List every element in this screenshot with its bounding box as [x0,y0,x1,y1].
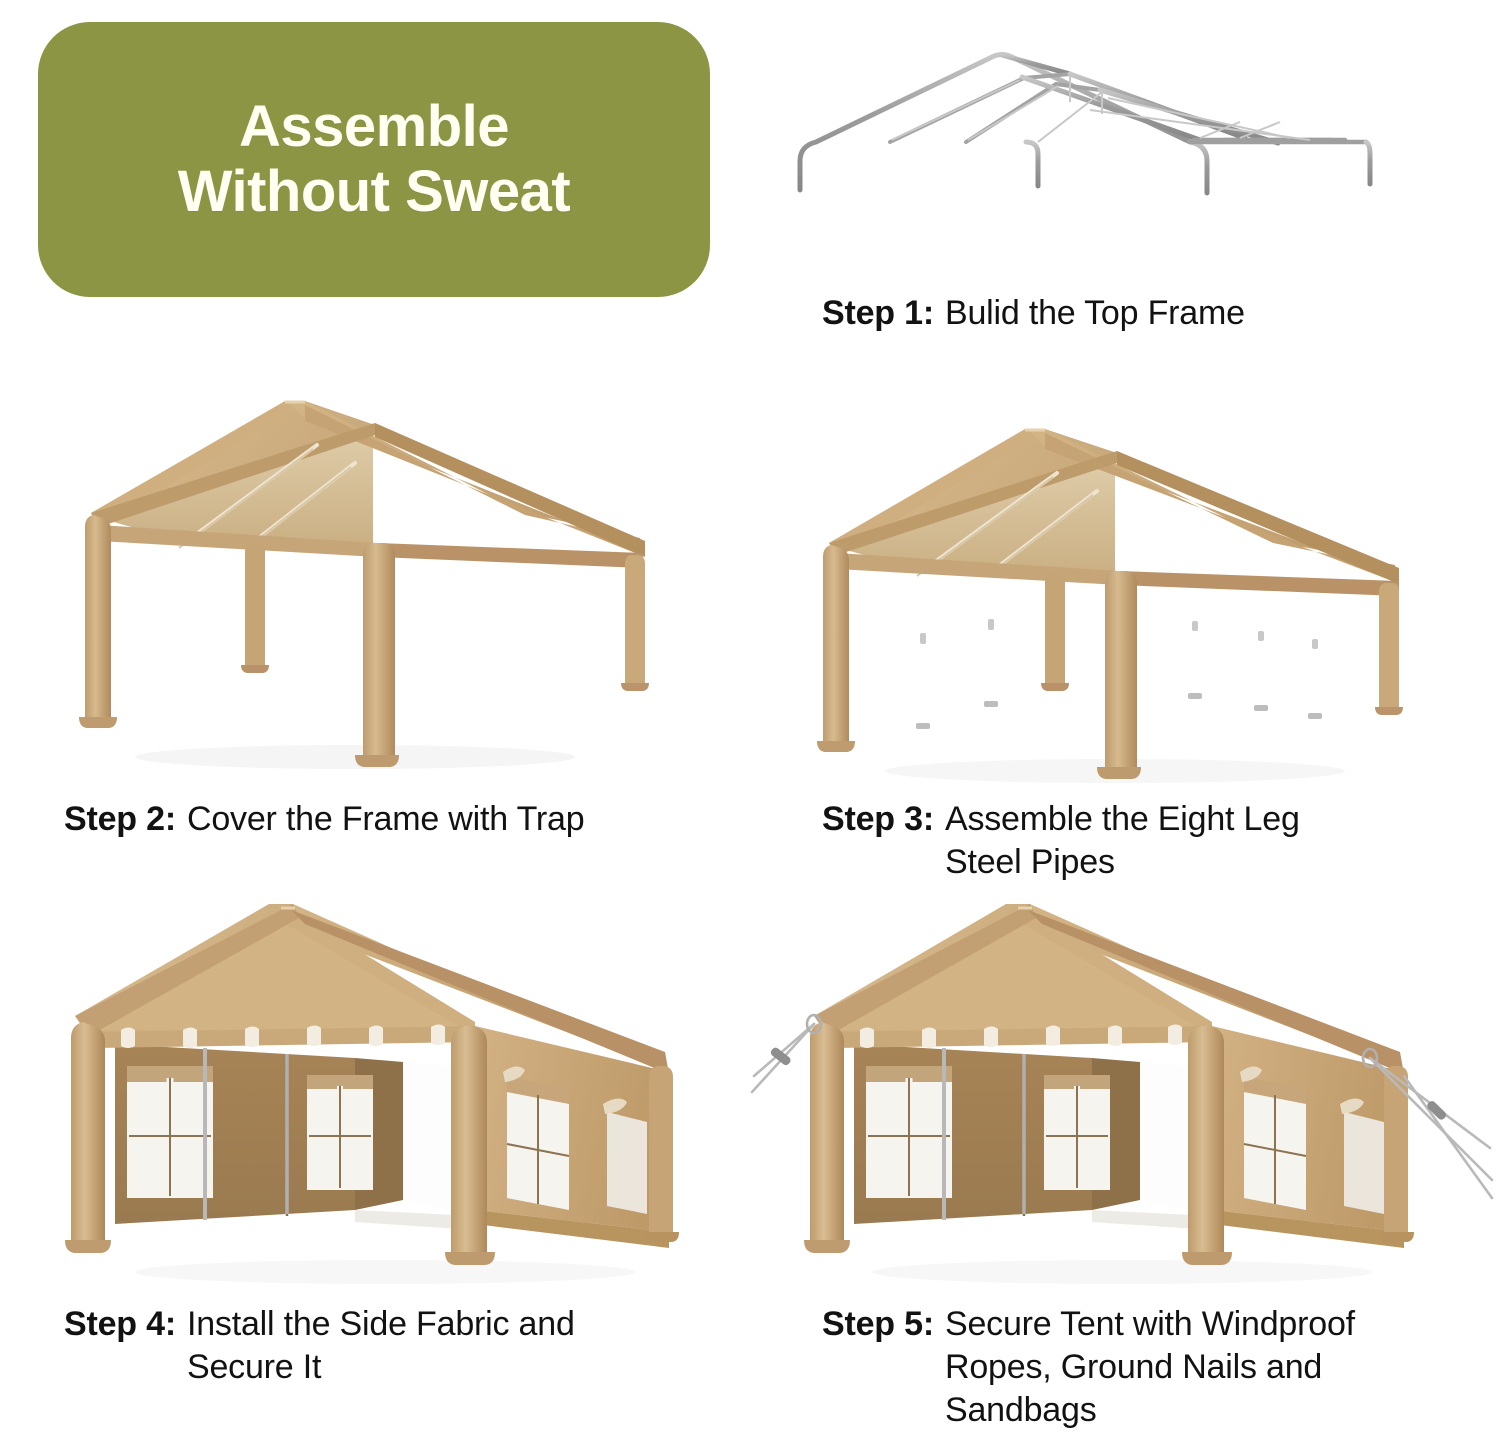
step-3-text-line-1: Assemble the Eight Leg [945,798,1300,841]
step-3-caption: Step 3: Assemble the Eight Leg Steel Pip… [822,798,1482,884]
step-5-caption: Step 5: Secure Tent with Windproof Ropes… [822,1303,1492,1431]
step-5-text-line-2: Ropes, Ground Nails and [945,1346,1355,1389]
headline-badge: Assemble Without Sweat [38,22,710,297]
window-side [503,1066,569,1210]
step-5-illustration [752,880,1492,1292]
tent-with-guy-ropes-diagram [752,880,1492,1292]
window-center [1044,1075,1110,1190]
infographic-page: Assemble Without Sweat [0,0,1500,1435]
step-3-text-line-2: Steel Pipes [945,841,1300,884]
canopy-four-leg-diagram [55,365,725,780]
step-1-text: Bulid the Top Frame [945,292,1245,335]
step-4-text-line-1: Install the Side Fabric and [187,1303,575,1346]
headline-text: Assemble Without Sweat [178,95,571,225]
step-5-text-line-1: Secure Tent with Windproof [945,1303,1355,1346]
step-1-label: Step 1: [822,292,945,335]
step-1-caption: Step 1: Bulid the Top Frame [822,292,1462,335]
step-5-label: Step 5: [822,1303,945,1431]
headline-line-1: Assemble [178,95,571,160]
step-3-illustration [795,395,1475,795]
step-4-text-line-2: Secure It [187,1346,575,1389]
canopy-eight-leg-diagram [795,395,1475,795]
window-left [866,1066,952,1198]
step-5-text-line-3: Sandbags [945,1389,1355,1432]
top-frame-diagram [770,18,1390,268]
window-center [307,1075,373,1190]
step-2-illustration [55,365,725,780]
step-4-caption: Step 4: Install the Side Fabric and Secu… [64,1303,754,1389]
rope-tensioner-left [769,1046,792,1067]
step-3-label: Step 3: [822,798,945,884]
step-2-caption: Step 2: Cover the Frame with Trap [64,798,744,841]
step-2-label: Step 2: [64,798,187,841]
headline-line-2: Without Sweat [178,160,571,225]
enclosed-tent-diagram [55,880,745,1290]
step-4-label: Step 4: [64,1303,187,1389]
step-2-text: Cover the Frame with Trap [187,798,584,841]
window-side [1240,1066,1306,1210]
window-left [127,1066,213,1198]
step-1-illustration [770,18,1390,268]
step-4-illustration [55,880,745,1290]
